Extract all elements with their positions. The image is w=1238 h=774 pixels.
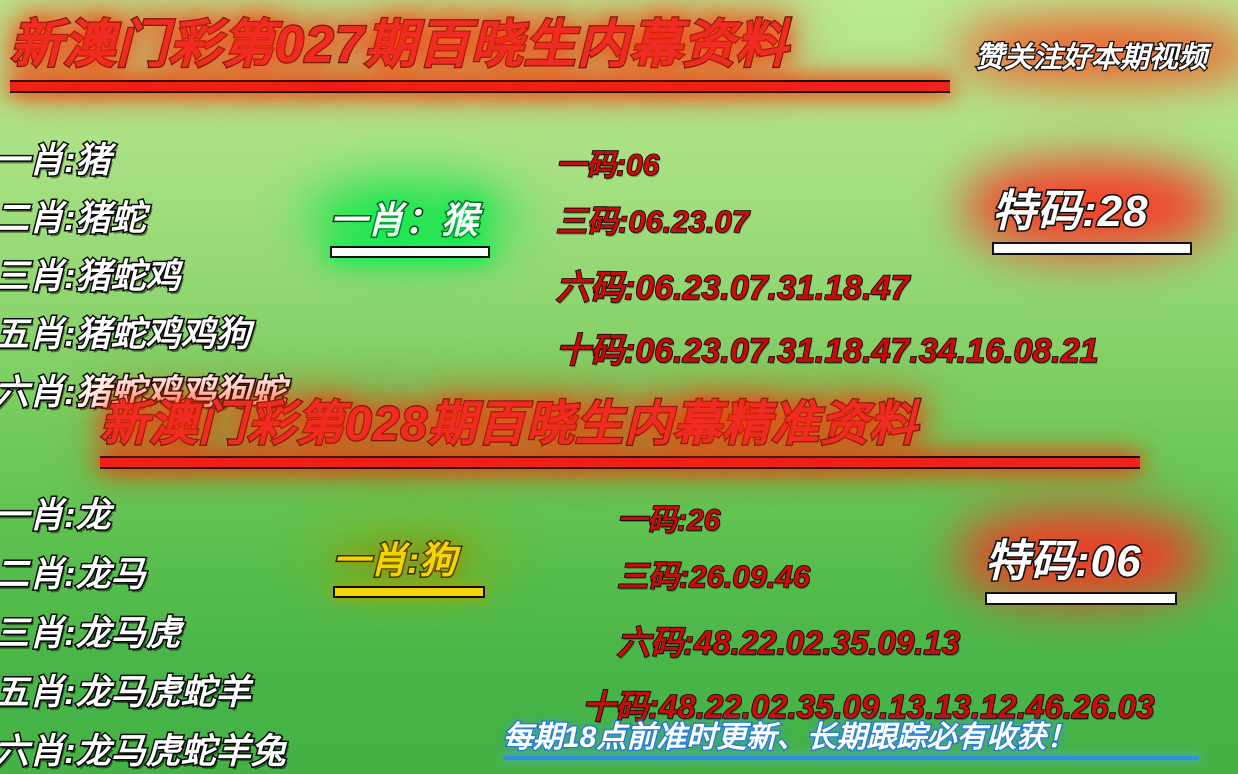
poster-canvas: 新澳门彩第027期百晓生内幕资料 赞关注好本期视频 一肖:猪 二肖:猪蛇 三肖:… (0, 0, 1238, 774)
promo-banner: 赞关注好本期视频 (975, 30, 1238, 76)
zodiac-line: 五肖:龙马虎蛇羊 (0, 664, 286, 715)
section-2-single-zodiac-pick: 一肖:狗 (333, 530, 485, 598)
zodiac-line: 三肖:猪蛇鸡 (0, 248, 286, 299)
footer-underline (503, 756, 1199, 760)
section-2-pick-underline (333, 586, 485, 598)
section-1-zodiac-list: 一肖:猪 二肖:猪蛇 三肖:猪蛇鸡 五肖:猪蛇鸡鸡狗 六肖:猪蛇鸡鸡狗蛇 (0, 132, 286, 415)
zodiac-line: 一肖:龙 (0, 487, 286, 538)
zodiac-line: 五肖:猪蛇鸡鸡狗 (0, 306, 286, 357)
section-1-single-zodiac-pick: 一肖：猴 (330, 190, 490, 258)
section-2-special-code: 特码:06 (985, 525, 1177, 605)
code-line-ten: 十码:06.23.07.31.18.47.34.16.08.21 (556, 323, 1099, 372)
code-line-six: 六码:48.22.02.35.09.13 (617, 616, 1189, 664)
section-2-title-banner: 新澳门彩第028期百晓生内幕精准资料 (100, 396, 1140, 468)
section-1-title-underline (10, 80, 950, 93)
section-1-pick-underline (330, 246, 490, 258)
section-2-special-label: 特码:06 (985, 525, 1177, 589)
section-2-special-underline (985, 592, 1177, 605)
zodiac-line: 一肖:猪 (0, 132, 286, 183)
section-1-pick-label: 一肖：猴 (330, 190, 490, 244)
section-2-title-underline (100, 456, 1140, 469)
section-1-special-code: 特码:28 (992, 175, 1192, 255)
promo-text: 赞关注好本期视频 (975, 34, 1238, 76)
code-line-six: 六码:06.23.07.31.18.47 (556, 260, 1099, 309)
section-2-zodiac-list: 一肖:龙 二肖:龙马 三肖:龙马虎 五肖:龙马虎蛇羊 六肖:龙马虎蛇羊兔 (0, 487, 286, 774)
zodiac-line: 六肖:龙马虎蛇羊兔 (0, 723, 286, 774)
section-1-special-label: 特码:28 (992, 175, 1192, 239)
footer-text: 每期18点前准时更新、长期跟踪必有收获！ (503, 712, 1203, 756)
section-2-title: 新澳门彩第028期百晓生内幕精准资料 (100, 396, 1140, 454)
section-1-special-underline (992, 242, 1192, 255)
zodiac-line: 二肖:猪蛇 (0, 190, 286, 241)
section-1-title-banner: 新澳门彩第027期百晓生内幕资料 (10, 14, 950, 90)
zodiac-line: 二肖:龙马 (0, 546, 286, 597)
zodiac-line: 三肖:龙马虎 (0, 605, 286, 656)
section-2-pick-label: 一肖:狗 (333, 530, 485, 584)
footer-banner: 每期18点前准时更新、长期跟踪必有收获！ (503, 712, 1203, 756)
section-1-title: 新澳门彩第027期百晓生内幕资料 (10, 14, 950, 76)
